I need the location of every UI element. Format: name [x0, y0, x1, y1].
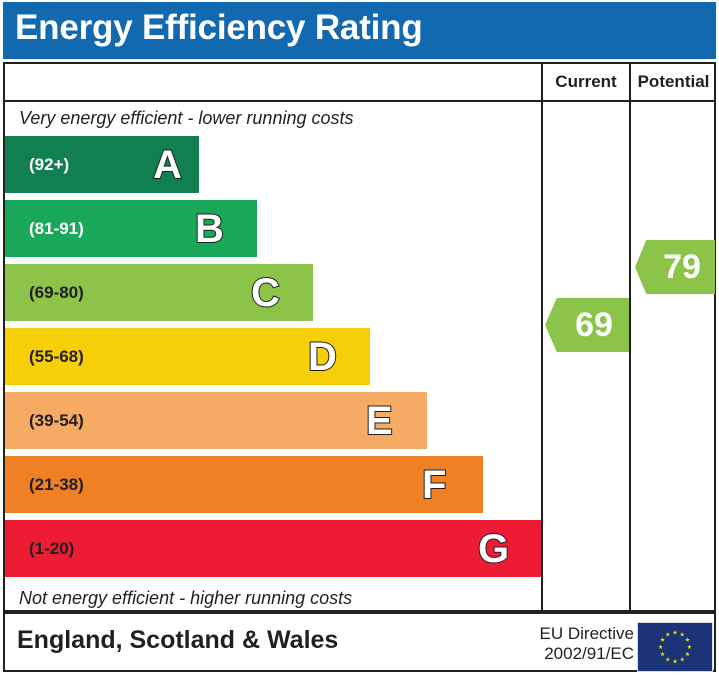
column-separator-potential: [629, 64, 631, 610]
band-range-label: (21-38): [29, 475, 84, 495]
header-divider-left: [5, 100, 541, 102]
caption-top: Very energy efficient - lower running co…: [19, 108, 354, 129]
eu-flag-stars: [638, 623, 712, 671]
potential-rating-marker-value: 79: [649, 250, 701, 284]
band-range-label: (81-91): [29, 219, 84, 239]
band-range-label: (92+): [29, 155, 69, 175]
rating-band-d: (55-68)D: [5, 328, 370, 385]
rating-band-f: (21-38)F: [5, 456, 483, 513]
region-label: England, Scotland & Wales: [17, 626, 338, 655]
rating-band-b: (81-91)B: [5, 200, 257, 257]
caption-bottom: Not energy efficient - higher running co…: [19, 588, 352, 609]
band-letter-a: A: [153, 145, 182, 185]
current-rating-marker: 69: [545, 298, 629, 352]
band-letter-b: B: [195, 209, 224, 249]
potential-rating-marker: 79: [635, 240, 715, 294]
band-letter-e: E: [366, 401, 393, 441]
rating-band-a: (92+)A: [5, 136, 199, 193]
directive-line-2: 2002/91/EC: [524, 644, 634, 664]
band-range-label: (1-20): [29, 539, 74, 559]
rating-band-c: (69-80)C: [5, 264, 313, 321]
page-title: Energy Efficiency Rating: [15, 8, 423, 48]
footer-bar: England, Scotland & Wales EU Directive 2…: [3, 612, 716, 672]
rating-chart: Current Potential Very energy efficient …: [3, 62, 716, 612]
current-rating-marker-value: 69: [561, 308, 613, 342]
column-header-potential: Potential: [631, 72, 716, 92]
rating-band-g: (1-20)G: [5, 520, 541, 577]
column-separator-current: [541, 64, 543, 610]
band-letter-d: D: [308, 337, 337, 377]
band-letter-f: F: [422, 465, 446, 505]
band-range-label: (55-68): [29, 347, 84, 367]
energy-efficiency-certificate: Energy Efficiency Rating Current Potenti…: [0, 0, 719, 675]
directive-line-1: EU Directive: [524, 624, 634, 644]
title-bar: Energy Efficiency Rating: [3, 2, 716, 59]
directive-label: EU Directive 2002/91/EC: [524, 624, 634, 664]
band-letter-c: C: [251, 273, 280, 313]
rating-band-e: (39-54)E: [5, 392, 427, 449]
band-letter-g: G: [478, 529, 509, 569]
column-header-current: Current: [543, 72, 629, 92]
band-range-label: (39-54): [29, 411, 84, 431]
eu-flag-icon: [637, 622, 713, 672]
band-range-label: (69-80): [29, 283, 84, 303]
